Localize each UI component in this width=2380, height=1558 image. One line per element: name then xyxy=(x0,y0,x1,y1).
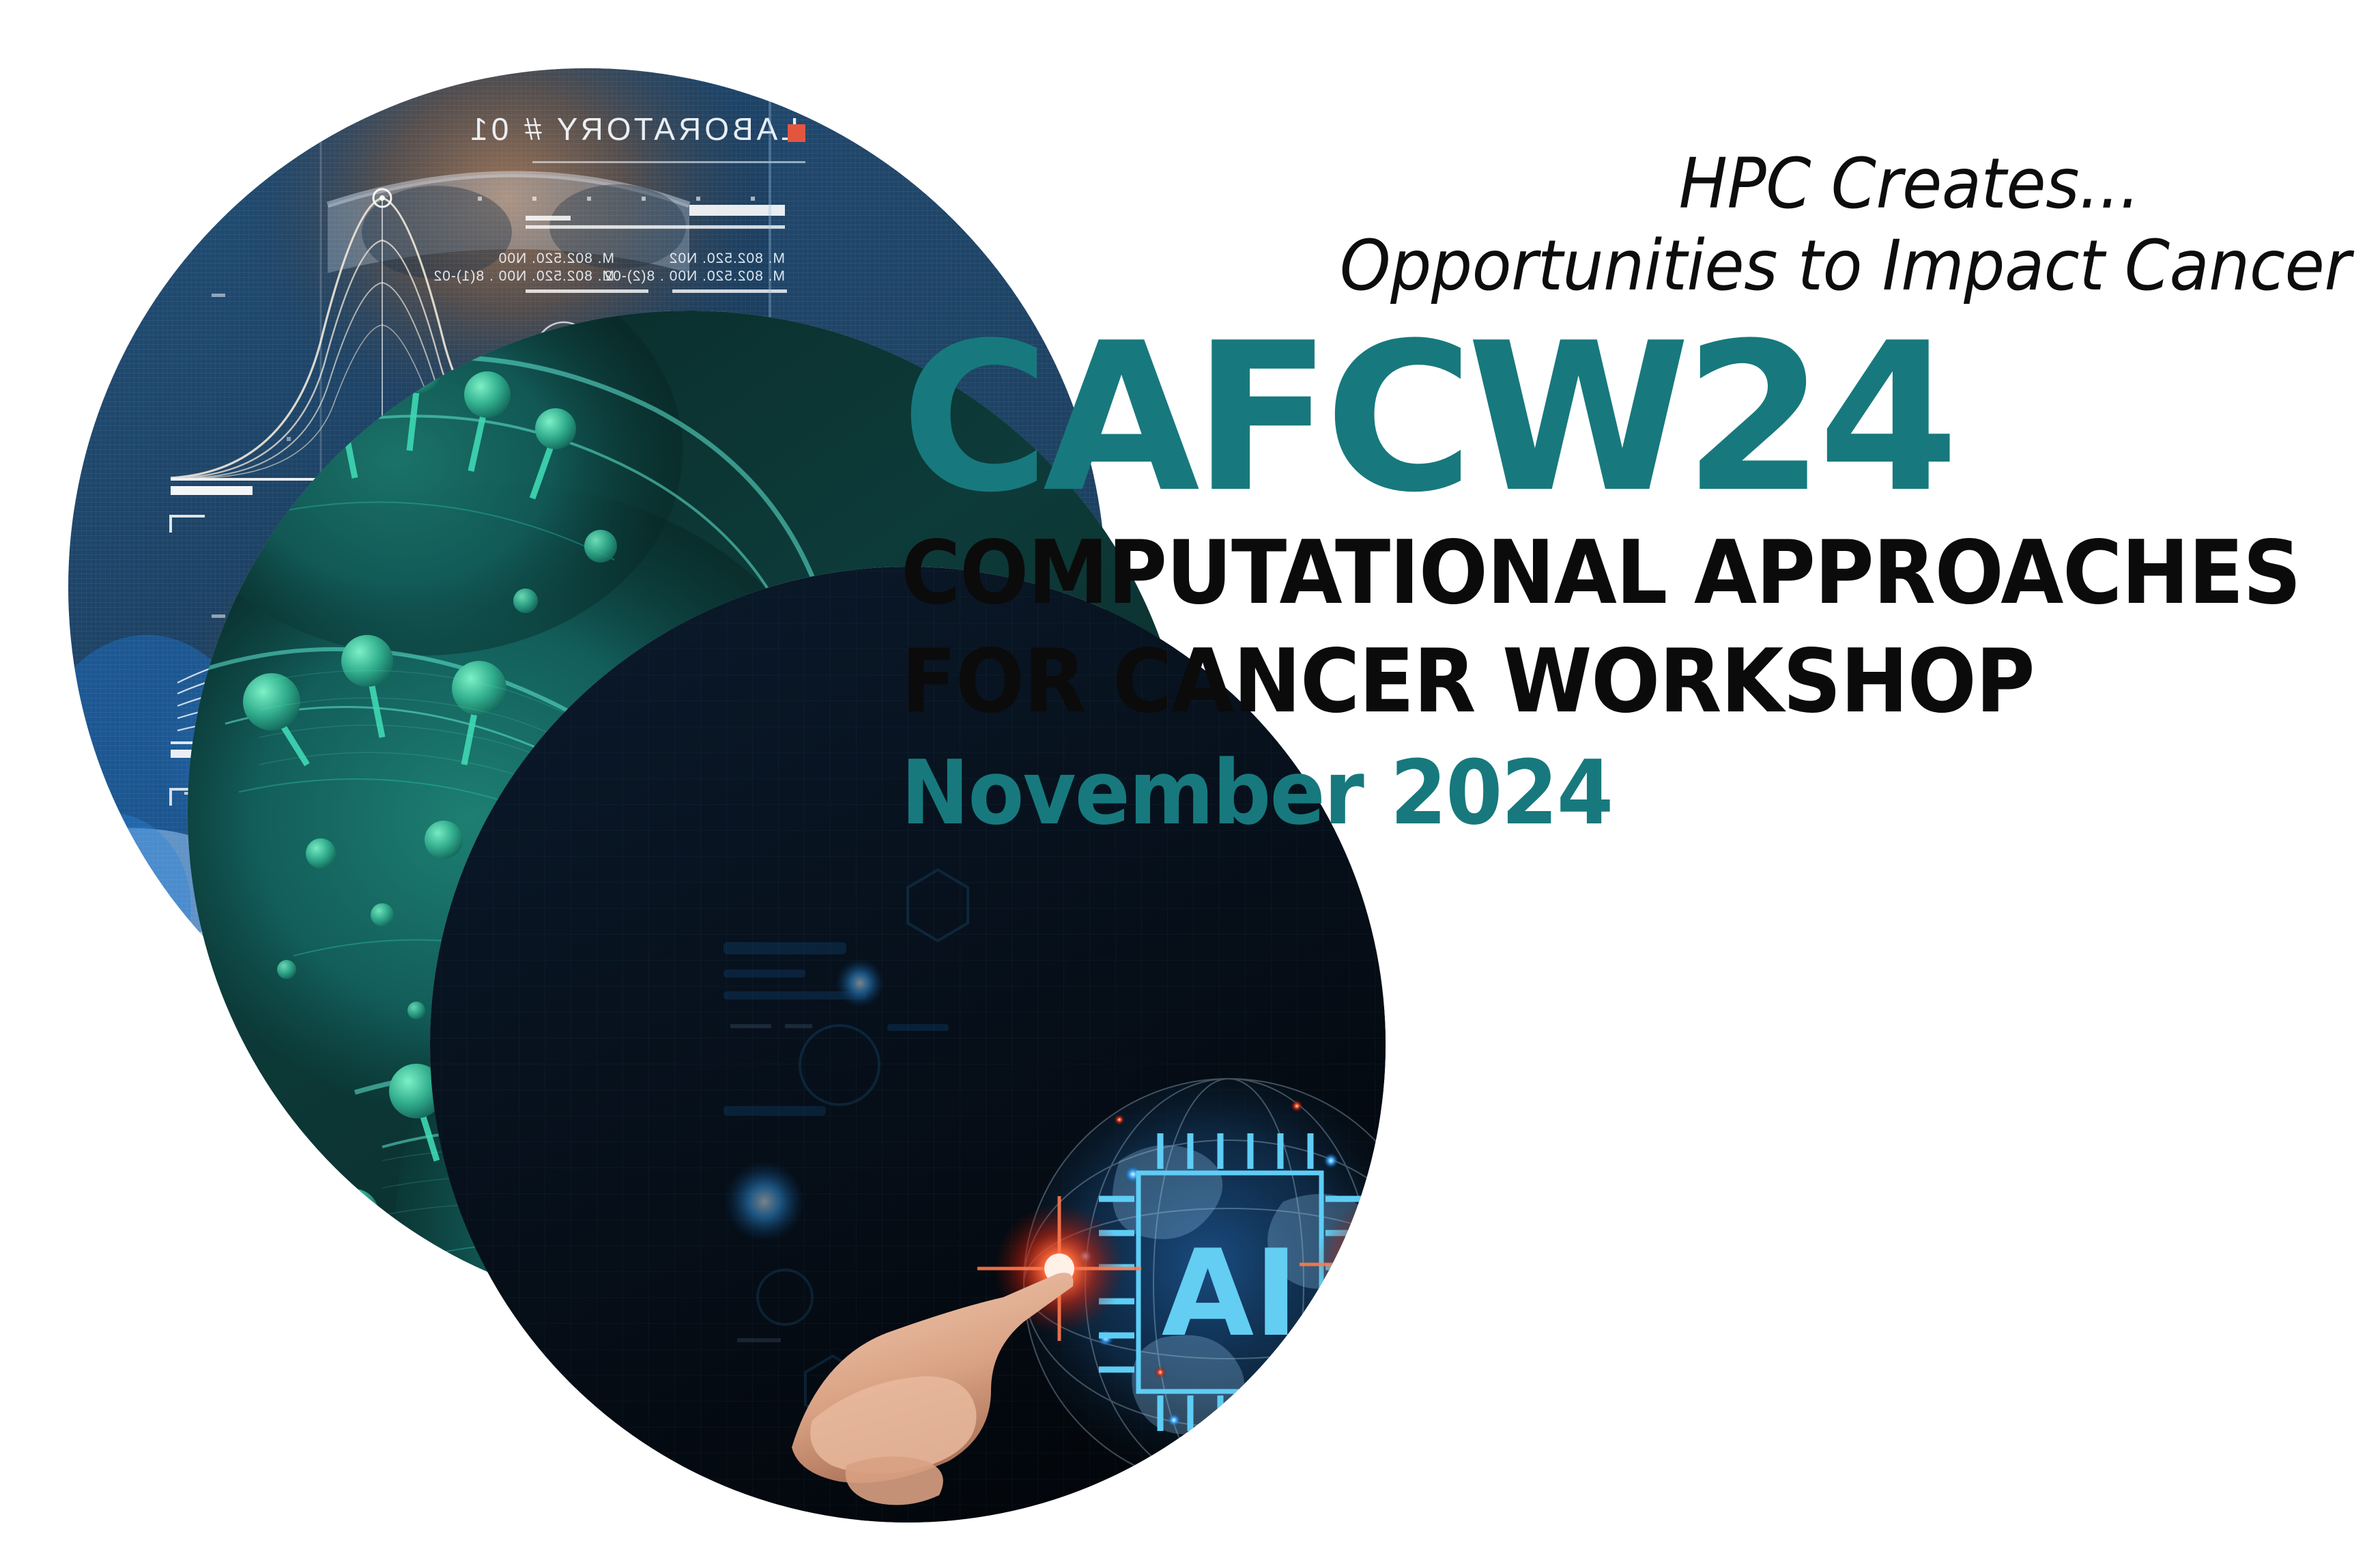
ai-chip-label: AI xyxy=(1162,1225,1299,1363)
dateline: November 2024 xyxy=(901,748,2251,837)
subtitle-line-1: COMPUTATIONAL APPROACHES xyxy=(901,524,2266,622)
svg-text:M. 802.520. N00 . 8(2)-02: M. 802.520. N00 . 8(2)-02 xyxy=(604,268,785,284)
tagline-line-1: HPC Creates... xyxy=(1004,143,2369,225)
hud-laboratory-label: LABORATORY # 01 xyxy=(467,111,799,147)
subtitle-line-2: FOR CANCER WORKSHOP xyxy=(901,633,2266,731)
tagline-line-2: Opportunities to Impact Cancer xyxy=(1004,225,2369,307)
wordmark-cafcw24: CAFCW24 xyxy=(901,323,2354,513)
logo-text-block: HPC Creates... Opportunities to Impact C… xyxy=(901,143,2368,837)
svg-text:M. 802.520. N00: M. 802.520. N00 xyxy=(498,251,614,266)
svg-text:M. 802.520. N02: M. 802.520. N02 xyxy=(669,251,785,266)
svg-text:M. 802.520. N00 . 8(1)-02: M. 802.520. N00 . 8(1)-02 xyxy=(433,268,614,284)
robot-hand xyxy=(1368,1206,1740,1456)
hud-status-dot xyxy=(788,124,805,142)
cafcw24-logo: LABORATORY # 01 xyxy=(0,0,2380,1558)
